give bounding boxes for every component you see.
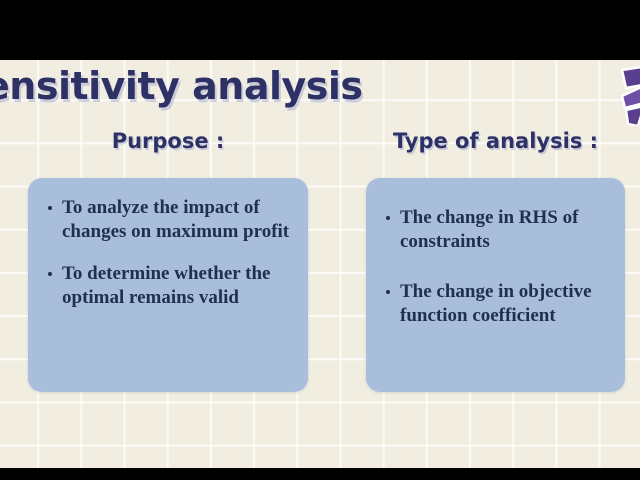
list-item-text: The change in objective function coeffic… xyxy=(400,281,592,326)
presentation-slide: ensitivity analysis Purpose : Type of an… xyxy=(0,60,640,468)
list-item: The change in objective function coeffic… xyxy=(384,280,611,328)
list-item-text: The change in RHS of constraints xyxy=(400,207,578,252)
bullet-dot-icon xyxy=(48,272,52,276)
slide-title: ensitivity analysis xyxy=(0,64,384,108)
column-heading-purpose: Purpose : xyxy=(28,128,308,154)
list-item: The change in RHS of constraints xyxy=(384,206,611,254)
purpose-bullet-list: To analyze the impact of changes on maxi… xyxy=(28,178,308,320)
video-player-frame: ensitivity analysis Purpose : Type of an… xyxy=(0,0,640,480)
purpose-card: To analyze the impact of changes on maxi… xyxy=(28,178,308,392)
type-of-analysis-bullet-list: The change in RHS of constraints The cha… xyxy=(366,178,625,338)
letterbox-bar-top xyxy=(0,0,640,60)
x-logo-icon xyxy=(592,62,640,126)
bullet-dot-icon xyxy=(48,206,52,210)
type-of-analysis-card: The change in RHS of constraints The cha… xyxy=(366,178,625,392)
list-item-text: To determine whether the optimal remains… xyxy=(62,263,270,308)
list-item: To analyze the impact of changes on maxi… xyxy=(46,196,294,244)
letterbox-bar-bottom xyxy=(0,468,640,480)
column-heading-type-of-analysis: Type of analysis : xyxy=(366,128,625,154)
list-item: To determine whether the optimal remains… xyxy=(46,262,294,310)
list-item-text: To analyze the impact of changes on maxi… xyxy=(62,197,289,242)
bullet-dot-icon xyxy=(386,216,390,220)
bullet-dot-icon xyxy=(386,290,390,294)
